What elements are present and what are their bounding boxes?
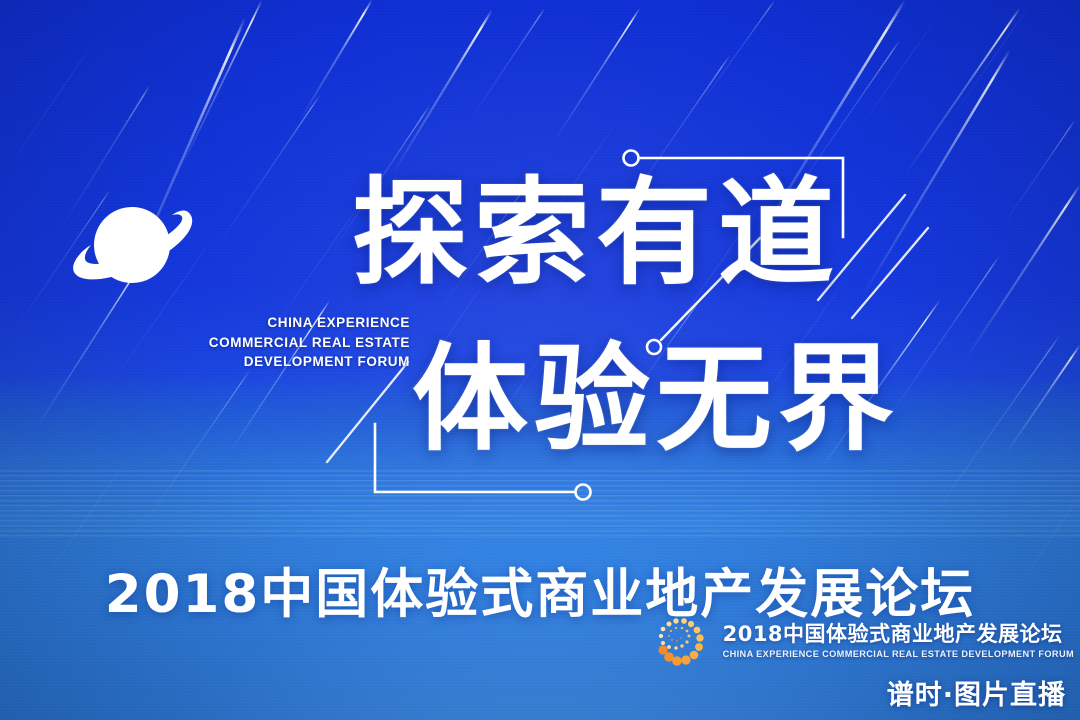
circle-node-bottom [576,485,591,500]
headline-line-2: 体验无界 [412,338,900,460]
english-tagline: CHINA EXPERIENCE COMMERCIAL REAL ESTATE … [180,313,410,372]
forum-logo-lockup: 2018中国体验式商业地产发展论坛 CHINA EXPERIENCE COMME… [651,610,1074,672]
horizontal-band-texture [0,470,1080,540]
forum-logo-english-name: CHINA EXPERIENCE COMMERCIAL REAL ESTATE … [723,648,1074,661]
saturn-planet-icon [62,190,202,300]
poster-canvas: CHINA EXPERIENCE COMMERCIAL REAL ESTATE … [0,0,1080,720]
english-tagline-line-2: COMMERCIAL REAL ESTATE [180,333,410,353]
forum-logo-chinese-name: 2018中国体验式商业地产发展论坛 [723,622,1074,646]
photo-live-watermark: 谱时·图片直播 [887,673,1066,712]
accent-diagonal-left-1 [327,362,408,462]
spiral-dots-mandala-icon [651,610,713,672]
circle-node-top [624,151,639,166]
headline-line-1: 探索有道 [352,172,840,294]
english-tagline-line-3: DEVELOPMENT FORUM [180,352,410,372]
forum-logo-text: 2018中国体验式商业地产发展论坛 CHINA EXPERIENCE COMME… [723,622,1074,661]
english-tagline-line-1: CHINA EXPERIENCE [180,313,410,333]
accent-diagonal-right-2 [852,228,928,318]
